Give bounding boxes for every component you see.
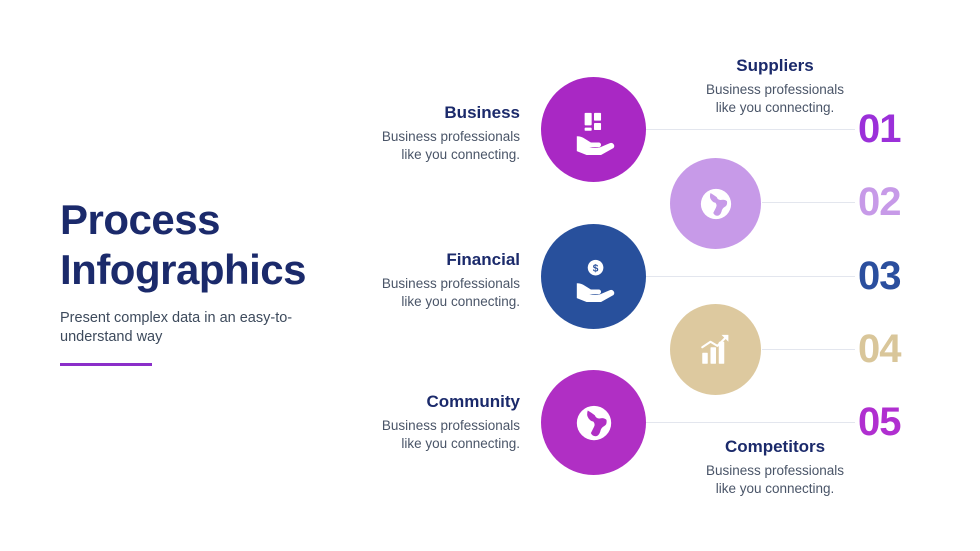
- step-body-suppliers-line-2: like you connecting.: [665, 99, 885, 117]
- page-subtitle: Present complex data in an easy-to-under…: [60, 309, 350, 347]
- page-title-line-1: Process: [60, 195, 350, 245]
- step-body-suppliers-line-1: Business professionals: [665, 81, 885, 99]
- step-text-financial: Financial Business professionals like yo…: [300, 250, 520, 311]
- step-number-04: 04: [858, 327, 901, 372]
- step-number-03: 03: [858, 254, 901, 299]
- step-text-community: Community Business professionals like yo…: [300, 392, 520, 453]
- step-number-05: 05: [858, 400, 901, 445]
- step-body-community-line-1: Business professionals: [300, 417, 520, 435]
- step-number-01: 01: [858, 107, 901, 152]
- step-text-suppliers: Suppliers Business professionals like yo…: [665, 56, 885, 117]
- step-body-business-line-2: like you connecting.: [300, 146, 520, 164]
- step-body-financial-line-2: like you connecting.: [300, 293, 520, 311]
- step-body-competitors-line-1: Business professionals: [665, 462, 885, 480]
- step-body-community-line-2: like you connecting.: [300, 435, 520, 453]
- step-circle-community[interactable]: [541, 370, 646, 475]
- step-circle-business[interactable]: [670, 158, 761, 249]
- step-heading-business: Business: [300, 103, 520, 123]
- bar-chart-growth-icon: [694, 328, 738, 372]
- connector-line-04: [762, 349, 855, 350]
- step-heading-competitors: Competitors: [665, 437, 885, 457]
- step-circle-competitors[interactable]: [670, 304, 761, 395]
- svg-text:$: $: [592, 263, 598, 274]
- connector-line-02: [762, 202, 855, 203]
- step-circle-suppliers[interactable]: [541, 77, 646, 182]
- step-body-financial-line-1: Business professionals: [300, 275, 520, 293]
- step-body-competitors-line-2: like you connecting.: [665, 480, 885, 498]
- slide-canvas: Process Infographics Present complex dat…: [0, 0, 980, 551]
- step-heading-suppliers: Suppliers: [665, 56, 885, 76]
- step-number-02: 02: [858, 180, 901, 225]
- connector-line-03: [640, 276, 855, 277]
- globe-icon: [569, 398, 619, 448]
- step-heading-community: Community: [300, 392, 520, 412]
- step-heading-financial: Financial: [300, 250, 520, 270]
- step-body-business-line-1: Business professionals: [300, 128, 520, 146]
- globe-icon: [694, 182, 738, 226]
- connector-line-01: [640, 129, 855, 130]
- connector-line-05: [640, 422, 855, 423]
- step-text-business: Business Business professionals like you…: [300, 103, 520, 164]
- hand-holding-box-icon: [569, 105, 619, 155]
- step-text-competitors: Competitors Business professionals like …: [665, 437, 885, 498]
- step-circle-financial[interactable]: $: [541, 224, 646, 329]
- accent-underline: [60, 363, 152, 366]
- hand-holding-coin-icon: $: [569, 252, 619, 302]
